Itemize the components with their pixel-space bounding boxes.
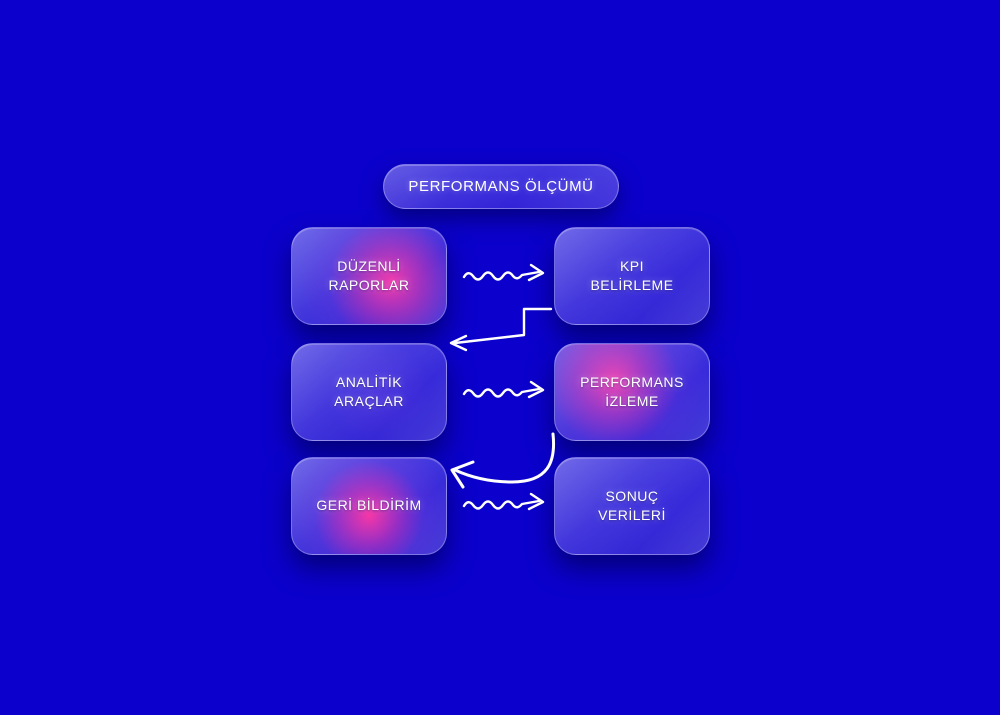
connector-layer xyxy=(0,0,1000,715)
arrow-row2 xyxy=(464,382,543,397)
diagram-title-pill: PERFORMANS ÖLÇÜMÜ xyxy=(383,164,619,209)
card-label: KPI BELİRLEME xyxy=(580,257,683,296)
card-label-line2: BELİRLEME xyxy=(590,277,673,293)
arrow-row1 xyxy=(464,265,543,280)
card-label-line2: ARAÇLAR xyxy=(334,393,404,409)
card-duzenli-raporlar[interactable]: DÜZENLİ RAPORLAR xyxy=(291,227,447,325)
card-label-line2: VERİLERİ xyxy=(598,507,666,523)
card-label: SONUÇ VERİLERİ xyxy=(588,487,676,526)
card-label-line2: İZLEME xyxy=(605,393,659,409)
diagram-canvas: PERFORMANS ÖLÇÜMÜ DÜZENLİ RAPORLAR KPI B… xyxy=(0,0,1000,715)
card-label-line1: SONUÇ xyxy=(605,488,658,504)
card-label-line1: DÜZENLİ xyxy=(337,258,400,274)
page-title: PERFORMANS ÖLÇÜMÜ xyxy=(408,178,593,195)
arrow-curve-izleme-to-geri xyxy=(452,434,554,487)
card-label: PERFORMANS İZLEME xyxy=(570,373,694,412)
card-label-line1: ANALİTİK xyxy=(336,374,402,390)
card-geri-bildirim[interactable]: GERİ BİLDİRİM xyxy=(291,457,447,555)
card-label: ANALİTİK ARAÇLAR xyxy=(324,373,414,412)
card-performans-izleme[interactable]: PERFORMANS İZLEME xyxy=(554,343,710,441)
card-analitik-araclar[interactable]: ANALİTİK ARAÇLAR xyxy=(291,343,447,441)
arrow-row3 xyxy=(464,494,543,509)
card-label-line1: KPI xyxy=(620,258,644,274)
card-label-line1: GERİ BİLDİRİM xyxy=(316,497,421,513)
card-kpi-belirleme[interactable]: KPI BELİRLEME xyxy=(554,227,710,325)
card-label-line2: RAPORLAR xyxy=(328,277,409,293)
card-label: DÜZENLİ RAPORLAR xyxy=(318,257,419,296)
card-label-line1: PERFORMANS xyxy=(580,374,684,390)
arrow-step-kpi-to-analitik xyxy=(451,309,551,350)
card-label: GERİ BİLDİRİM xyxy=(306,496,431,515)
card-sonuc-verileri[interactable]: SONUÇ VERİLERİ xyxy=(554,457,710,555)
